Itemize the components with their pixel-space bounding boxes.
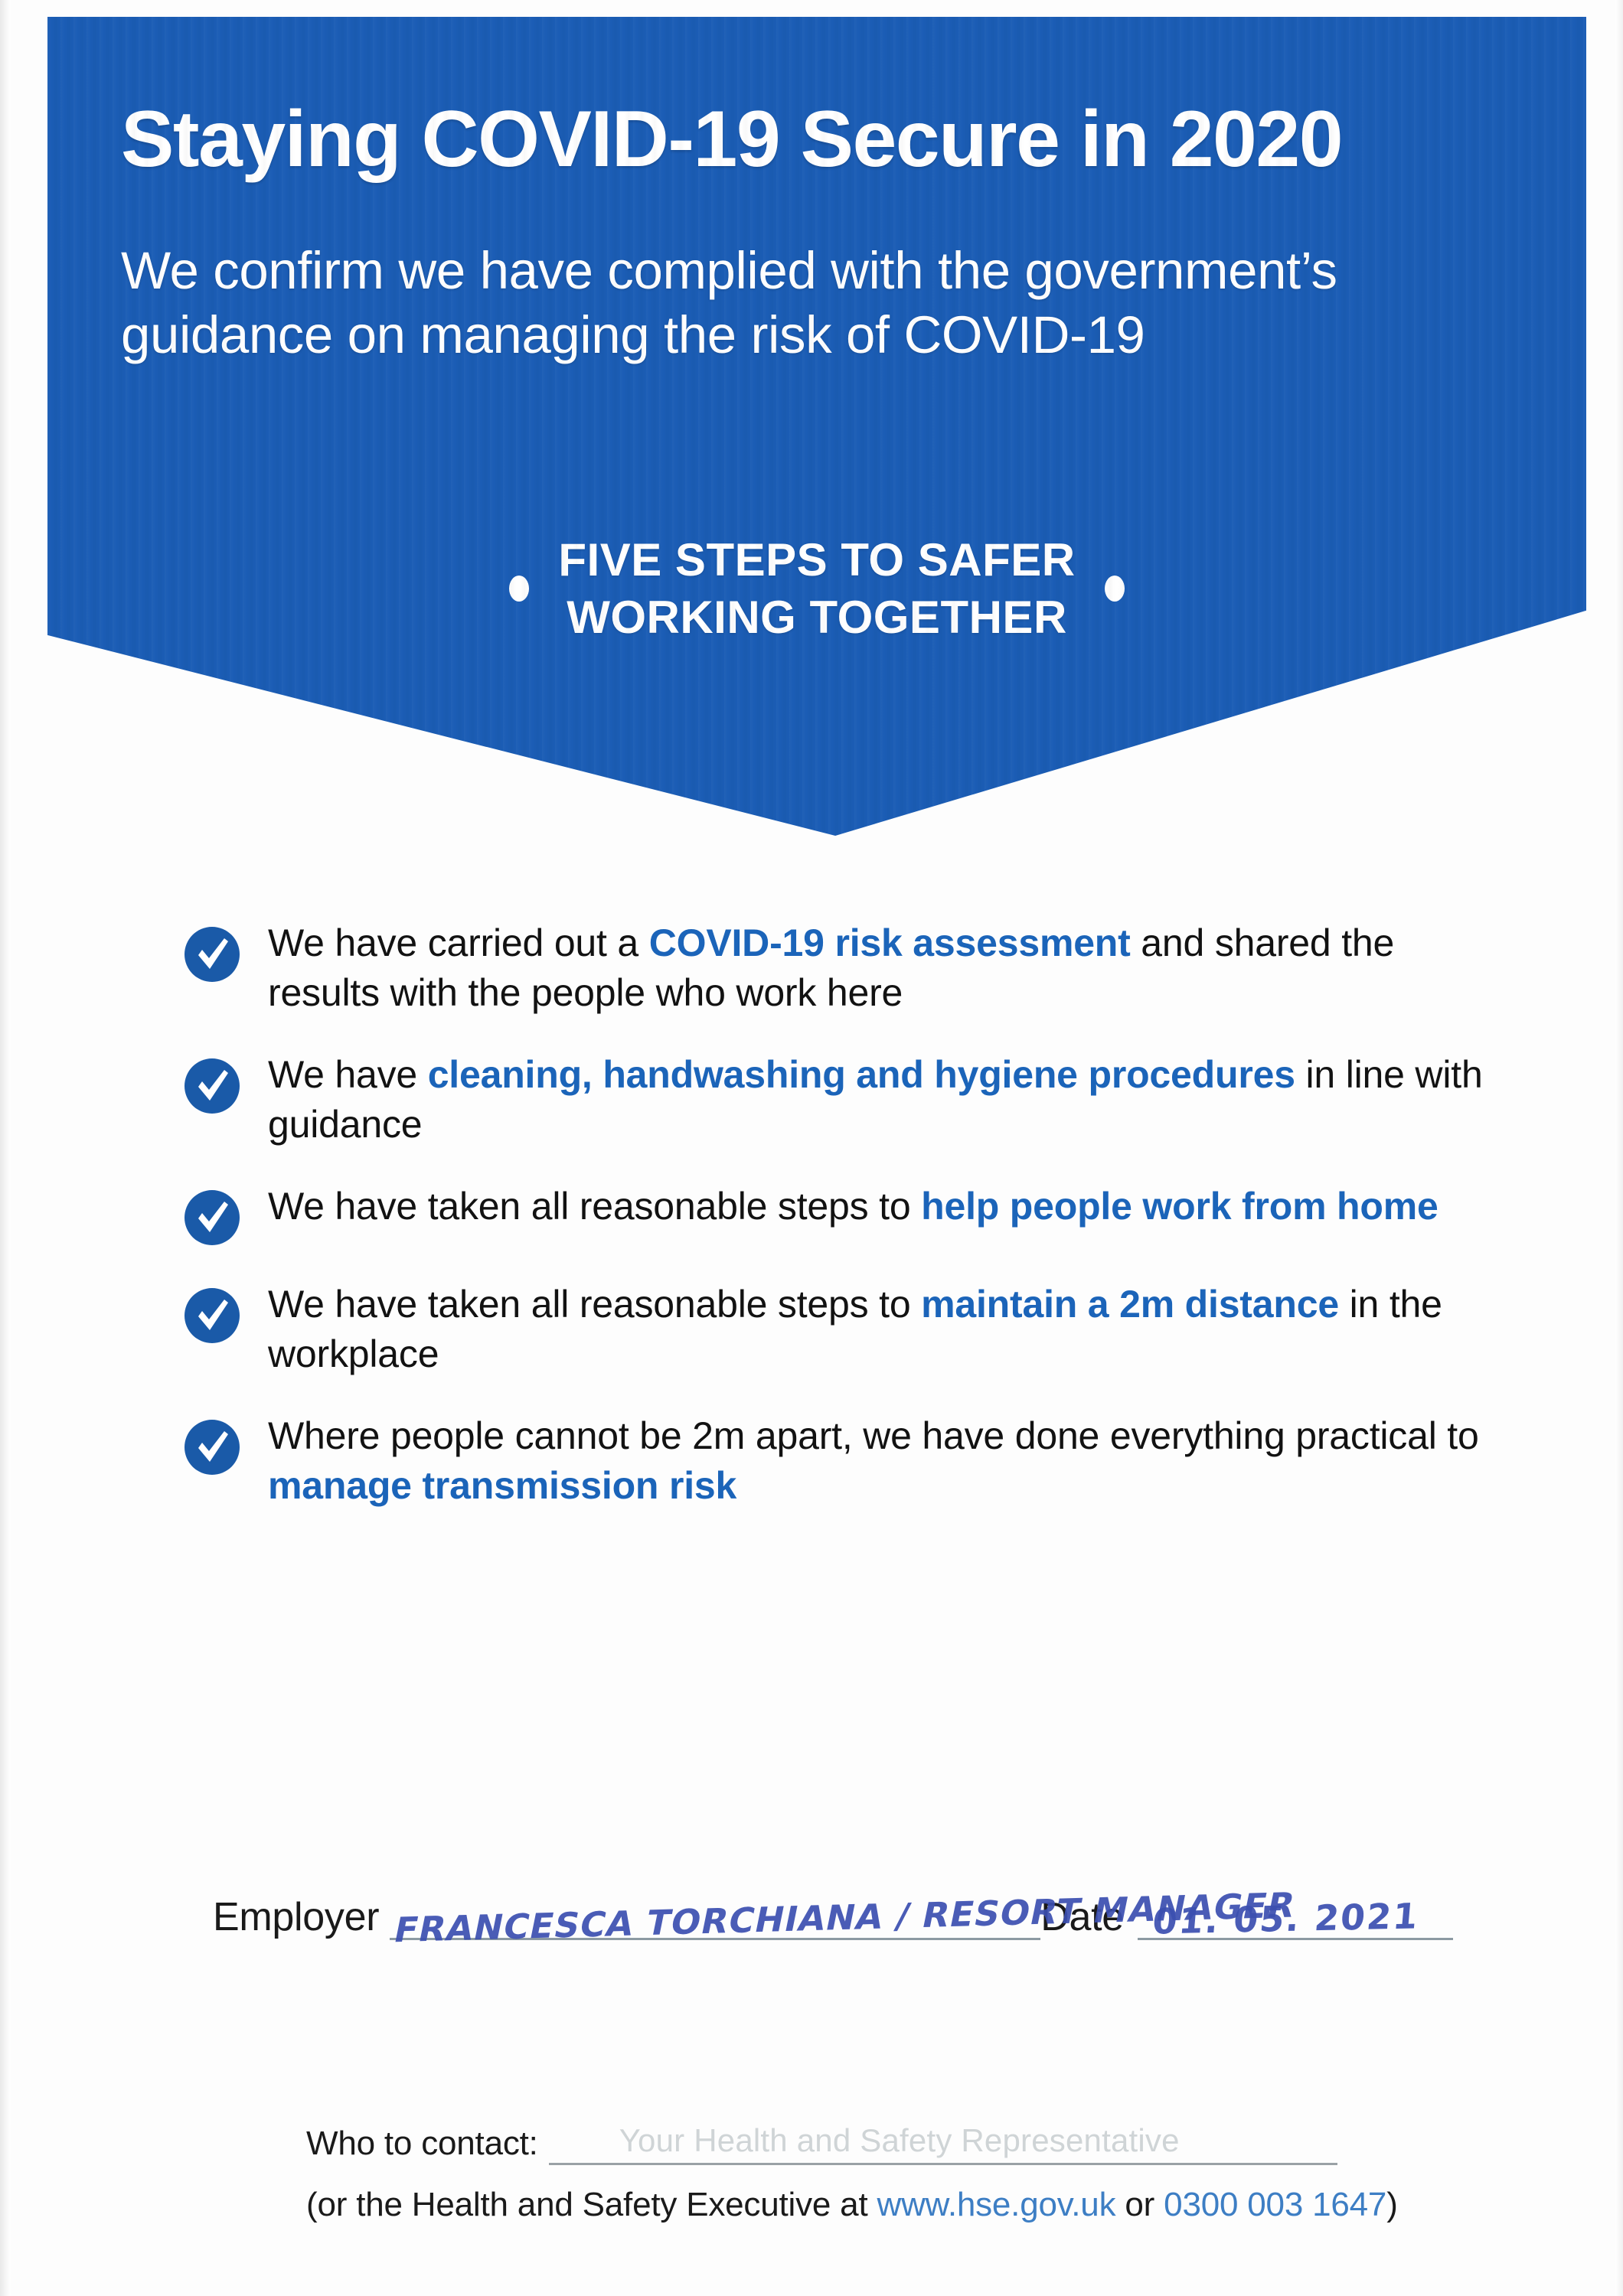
check-circle-icon <box>182 1417 242 1477</box>
text-highlight: COVID-19 risk assessment <box>649 921 1131 964</box>
bullet-dot-left-icon <box>509 576 529 602</box>
hse-note-prefix: (or the Health and Safety Executive at <box>306 2186 877 2223</box>
text-plain: We have taken all reasonable steps to <box>268 1283 921 1326</box>
checklist-item-text: We have carried out a COVID-19 risk asse… <box>268 918 1484 1018</box>
hse-phone-number[interactable]: 0300 003 1647 <box>1164 2186 1386 2223</box>
poster-page: Staying COVID-19 Secure in 2020 We confi… <box>0 0 1623 2296</box>
who-to-contact-label: Who to contact: <box>306 2127 538 2165</box>
checklist-item-text: We have taken all reasonable steps to ma… <box>268 1280 1484 1379</box>
text-plain: Where people cannot be 2m apart, we have… <box>268 1414 1479 1457</box>
checklist-item-text: We have taken all reasonable steps to he… <box>268 1182 1484 1231</box>
checklist-item: We have taken all reasonable steps to ma… <box>182 1280 1484 1379</box>
employer-label: Employer <box>213 1897 379 1940</box>
who-to-contact-row: Who to contact: Your Health and Safety R… <box>306 2120 1501 2165</box>
checklist-item: We have cleaning, handwashing and hygien… <box>182 1050 1484 1150</box>
contact-footer: Who to contact: Your Health and Safety R… <box>306 2120 1501 2226</box>
five-steps-callout: FIVE STEPS TO SAFER WORKING TOGETHER <box>47 531 1586 646</box>
checklist-item-text: Where people cannot be 2m apart, we have… <box>268 1411 1484 1511</box>
signature-block: Employer FRANCESCA TORCHIANA / RESORT MA… <box>213 1890 1530 1940</box>
who-to-contact-placeholder: Your Health and Safety Representative <box>619 2125 1180 2157</box>
check-circle-icon <box>182 1188 242 1247</box>
checklist-item: Where people cannot be 2m apart, we have… <box>182 1411 1484 1511</box>
hse-note-middle: or <box>1115 2186 1164 2223</box>
page-subtitle: We confirm we have complied with the gov… <box>121 239 1560 367</box>
date-value: 01. 05. 2021 <box>1151 1898 1421 1939</box>
text-highlight: maintain a 2m distance <box>921 1283 1339 1326</box>
hse-note: (or the Health and Safety Executive at w… <box>306 2183 1501 2226</box>
text-highlight: help people work from home <box>921 1185 1438 1228</box>
scan-edge-left <box>0 0 11 2296</box>
employer-field[interactable]: FRANCESCA TORCHIANA / RESORT MANAGER <box>390 1890 1040 1940</box>
page-title: Staying COVID-19 Secure in 2020 <box>121 99 1545 179</box>
compliance-checklist: We have carried out a COVID-19 risk asse… <box>182 918 1484 1543</box>
text-plain: We have carried out a <box>268 921 649 964</box>
bullet-dot-right-icon <box>1105 576 1125 602</box>
check-circle-icon <box>182 1286 242 1345</box>
header-banner: Staying COVID-19 Secure in 2020 We confi… <box>47 17 1586 836</box>
check-circle-icon <box>182 1056 242 1116</box>
text-plain: We have <box>268 1053 428 1096</box>
checklist-item: We have carried out a COVID-19 risk asse… <box>182 918 1484 1018</box>
check-circle-icon <box>182 925 242 984</box>
text-highlight: cleaning, handwashing and hygiene proced… <box>428 1053 1295 1096</box>
who-to-contact-input[interactable]: Your Health and Safety Representative <box>549 2120 1337 2165</box>
text-highlight: manage transmission risk <box>268 1464 736 1507</box>
five-steps-label: FIVE STEPS TO SAFER WORKING TOGETHER <box>558 531 1075 646</box>
hse-note-suffix: ) <box>1386 2186 1397 2223</box>
date-field[interactable]: 01. 05. 2021 <box>1138 1890 1453 1940</box>
scan-edge-right <box>1615 0 1623 2296</box>
checklist-item-text: We have cleaning, handwashing and hygien… <box>268 1050 1484 1150</box>
checklist-item: We have taken all reasonable steps to he… <box>182 1182 1484 1247</box>
text-plain: We have taken all reasonable steps to <box>268 1185 921 1228</box>
hse-website-link[interactable]: www.hse.gov.uk <box>877 2186 1116 2223</box>
